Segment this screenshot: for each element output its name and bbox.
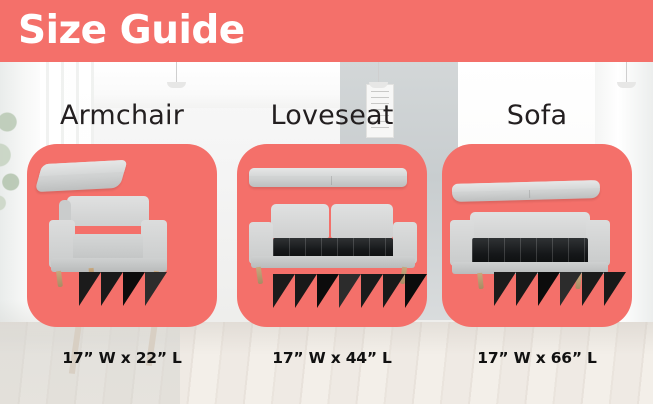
- sofa-arm-left: [450, 220, 474, 266]
- cushion-bar-icon: [452, 180, 600, 202]
- mat-fold: [560, 272, 582, 306]
- sofa-card[interactable]: [442, 144, 632, 327]
- folded-mat-icon: [79, 272, 167, 306]
- loveseat-base: [251, 256, 415, 268]
- loveseat-card[interactable]: [237, 144, 427, 327]
- mat-fold: [604, 272, 626, 306]
- mat-fold: [405, 274, 427, 308]
- mat-fold: [273, 274, 295, 308]
- size-option-armchair[interactable]: Armchair: [18, 100, 226, 367]
- size-option-sofa[interactable]: Sofa: [433, 100, 641, 367]
- sofa-deck: [472, 238, 588, 264]
- mat-fold: [317, 274, 339, 308]
- mat-fold: [538, 272, 560, 306]
- folded-mat-icon: [273, 274, 427, 308]
- loveseat-leg: [256, 267, 263, 285]
- mat-fold: [123, 272, 145, 306]
- mat-fold: [295, 274, 317, 308]
- armchair-card[interactable]: [27, 144, 217, 327]
- loveseat-illustration: [237, 144, 427, 327]
- loveseat-backrest: [271, 204, 329, 238]
- mat-fold: [516, 272, 538, 306]
- mat-fold: [101, 272, 123, 306]
- armchair-leg: [56, 271, 63, 287]
- armchair-dimensions: 17” W x 22” L: [18, 349, 226, 367]
- mat-fold: [339, 274, 361, 308]
- mat-fold: [79, 272, 101, 306]
- armchair-backrest: [67, 196, 149, 226]
- loveseat-dimensions: 17” W x 44” L: [228, 349, 436, 367]
- cushion-bar-icon: [249, 168, 407, 187]
- sofa-title: Sofa: [433, 100, 641, 134]
- page-title: Size Guide: [18, 6, 245, 56]
- sofa-arm-right: [586, 220, 610, 266]
- mat-fold: [383, 274, 405, 308]
- armchair-seat: [73, 234, 143, 260]
- loveseat-title: Loveseat: [228, 100, 436, 134]
- sofa-dimensions: 17” W x 66” L: [433, 349, 641, 367]
- folded-mat-icon: [494, 272, 626, 306]
- sofa-leg: [477, 273, 484, 289]
- armchair-base: [51, 258, 167, 272]
- mat-fold: [361, 274, 383, 308]
- armchair-title: Armchair: [18, 100, 226, 134]
- sofa-illustration: [442, 144, 632, 327]
- loveseat-deck: [273, 238, 393, 258]
- header-banner: Size Guide: [0, 0, 653, 62]
- mat-fold: [145, 272, 167, 306]
- loveseat-backrest: [331, 204, 393, 238]
- cushion-icon: [34, 160, 127, 192]
- mat-fold: [494, 272, 516, 306]
- mat-fold: [582, 272, 604, 306]
- size-option-loveseat[interactable]: Loveseat: [228, 100, 436, 367]
- armchair-illustration: [27, 144, 217, 327]
